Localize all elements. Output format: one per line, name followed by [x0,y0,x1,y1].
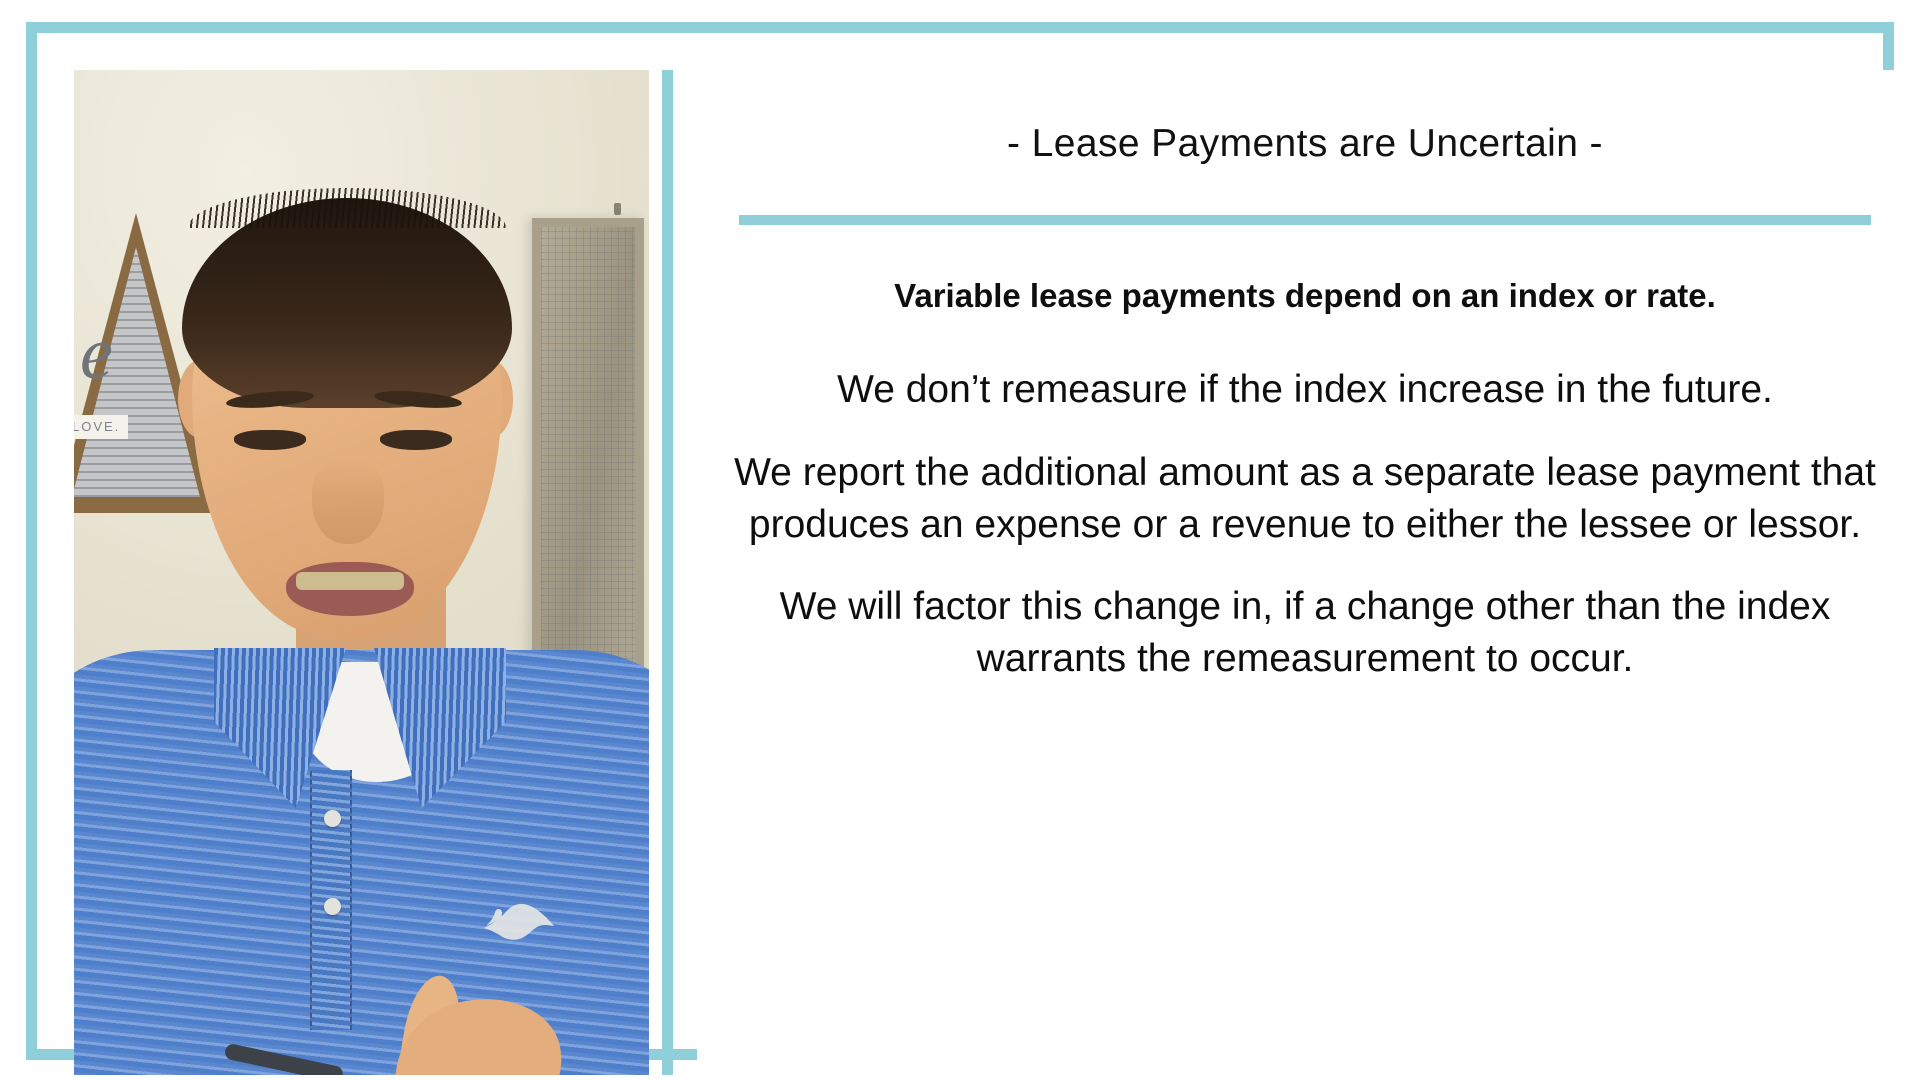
presenter-teeth [296,572,404,590]
slide-frame-border: e LOVE. [26,22,1894,1060]
presenter-photo: e LOVE. [74,70,649,1075]
slide-title: - Lease Payments are Uncertain - [697,122,1913,166]
presenter-hair [182,198,512,408]
slide-content-panel: - Lease Payments are Uncertain - Variabl… [697,70,1913,1075]
body-paragraph-3: We will factor this change in, if a chan… [725,581,1885,686]
presenter-shirt-button-top [324,810,341,827]
body-paragraph-2: We report the additional amount as a sep… [725,447,1885,552]
presenter-nose [312,458,384,544]
presenter-video-panel[interactable]: e LOVE. [74,70,649,1075]
presenter-figure [74,70,649,1075]
body-paragraph-1: We don’t remeasure if the index increase… [725,364,1885,416]
title-underline-rule [739,215,1871,225]
presenter-mouth [286,562,414,616]
slide-canvas: e LOVE. [0,0,1920,1080]
slide-body: Variable lease payments depend on an ind… [725,275,1885,686]
presenter-eye-left [234,430,306,450]
presenter-eye-right [380,430,452,450]
panel-divider [662,70,673,1075]
puma-cat-logo-icon [482,898,556,944]
presenter-shirt-button-bottom [324,898,341,915]
lead-statement: Variable lease payments depend on an ind… [725,275,1885,316]
